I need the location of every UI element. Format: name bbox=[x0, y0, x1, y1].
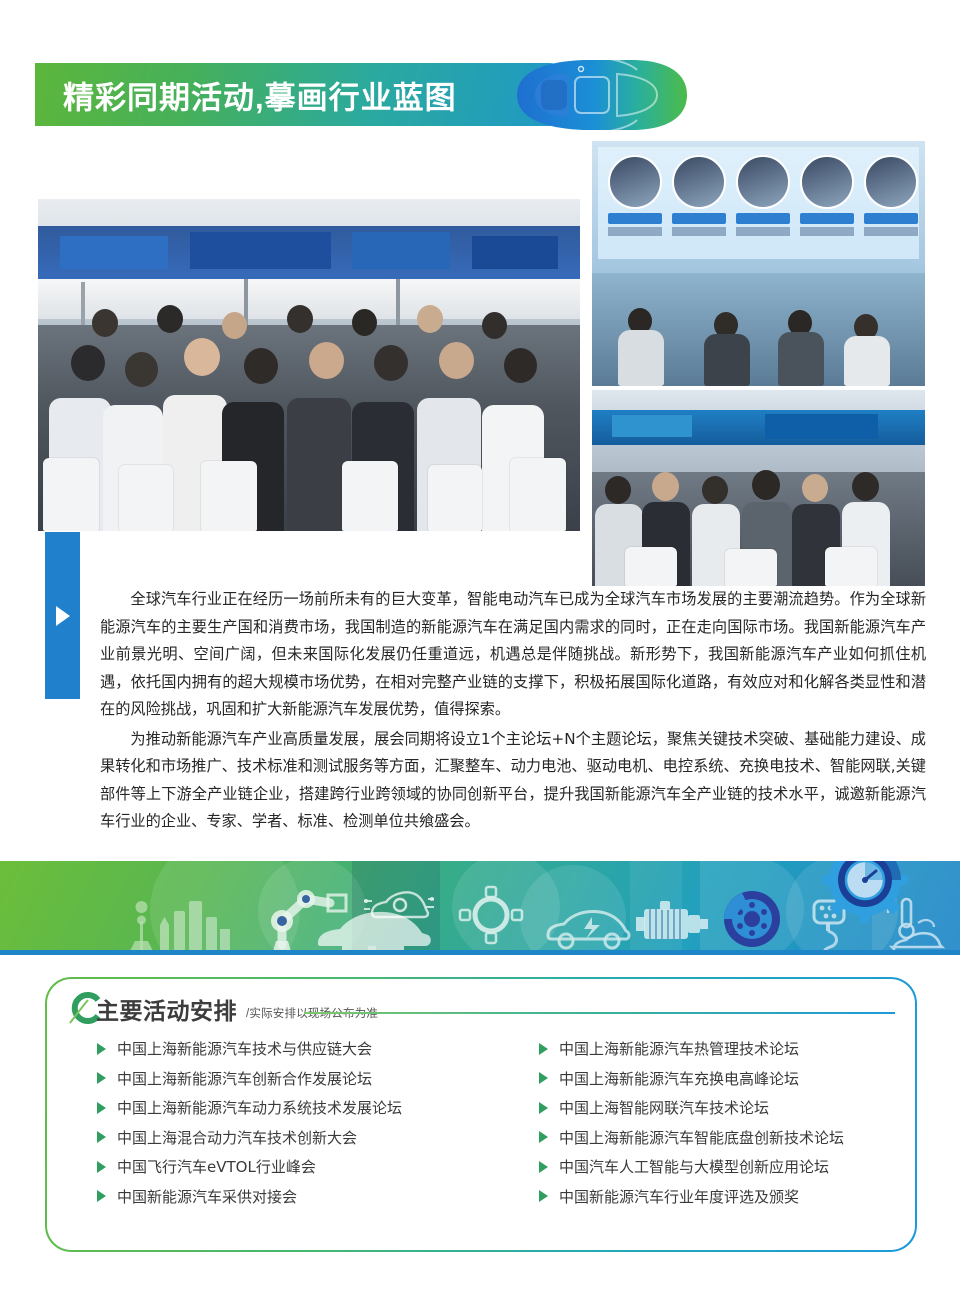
list-item-label: 中国新能源汽车采供对接会 bbox=[117, 1186, 297, 1207]
intro-paragraph-1: 全球汽车行业正在经历一场前所未有的巨大变革，智能电动汽车已成为全球汽车市场发展的… bbox=[100, 586, 926, 724]
triangle-bullet-icon bbox=[539, 1072, 548, 1084]
schedule-right-column: 中国上海新能源汽车热管理技术论坛 中国上海新能源汽车充换电高峰论坛 中国上海智能… bbox=[539, 1034, 919, 1211]
list-item[interactable]: 中国新能源汽车采供对接会 bbox=[97, 1182, 497, 1212]
speedometer-gear-icon bbox=[822, 861, 908, 923]
schedule-lists: 中国上海新能源汽车技术与供应链大会 中国上海新能源汽车创新合作发展论坛 中国上海… bbox=[97, 1034, 887, 1211]
list-item-label: 中国上海智能网联汽车技术论坛 bbox=[559, 1097, 769, 1118]
triangle-bullet-icon bbox=[97, 1131, 106, 1143]
ev-car-icon bbox=[540, 901, 636, 955]
page-title: 精彩同期活动,摹画行业蓝图 bbox=[63, 72, 457, 117]
list-item[interactable]: 中国上海新能源汽车创新合作发展论坛 bbox=[97, 1064, 497, 1094]
speaker-screen bbox=[598, 147, 919, 259]
list-item[interactable]: 中国汽车人工智能与大模型创新应用论坛 bbox=[539, 1152, 919, 1182]
list-item[interactable]: 中国上海新能源汽车动力系统技术发展论坛 bbox=[97, 1093, 497, 1123]
industry-icon-band bbox=[0, 861, 960, 955]
list-item[interactable]: 中国上海新能源汽车热管理技术论坛 bbox=[539, 1034, 919, 1064]
list-item[interactable]: 中国上海新能源汽车智能底盘创新技术论坛 bbox=[539, 1123, 919, 1153]
audience-photo: ATWW 英德·国际汽车制造技术周 INFO Auto Tech Week NE… bbox=[35, 196, 583, 534]
smart-car-circuit-icon bbox=[364, 881, 434, 927]
triangle-bullet-icon bbox=[97, 1190, 106, 1202]
schedule-card: 主要活动安排 /实际安排以现场公布为准 中国上海新能源汽车技术与供应链大会 中国… bbox=[45, 977, 917, 1252]
list-item[interactable]: 中国上海新能源汽车技术与供应链大会 bbox=[97, 1034, 497, 1064]
schedule-left-column: 中国上海新能源汽车技术与供应链大会 中国上海新能源汽车创新合作发展论坛 中国上海… bbox=[97, 1034, 497, 1211]
list-item-label: 中国上海新能源汽车创新合作发展论坛 bbox=[117, 1068, 372, 1089]
list-item-label: 中国上海混合动力汽车技术创新大会 bbox=[117, 1127, 357, 1148]
poster-page: 精彩同期活动,摹画行业蓝图 bbox=[0, 0, 960, 1302]
list-item-label: 中国上海新能源汽车动力系统技术发展论坛 bbox=[117, 1097, 402, 1118]
triangle-bullet-icon bbox=[97, 1102, 106, 1114]
car-top-view-icon bbox=[505, 52, 695, 138]
schedule-rule bbox=[304, 1012, 895, 1014]
list-item[interactable]: 中国上海新能源汽车充换电高峰论坛 bbox=[539, 1064, 919, 1094]
list-item-label: 中国上海新能源汽车充换电高峰论坛 bbox=[559, 1068, 799, 1089]
list-item-label: 中国飞行汽车eVTOL行业峰会 bbox=[117, 1156, 316, 1177]
list-item-label: 中国上海新能源汽车智能底盘创新技术论坛 bbox=[559, 1127, 844, 1148]
header-banner: 精彩同期活动,摹画行业蓝图 bbox=[35, 63, 580, 126]
intro-paragraph-2: 为推动新能源汽车产业高质量发展，展会同期将设立1个主论坛+N个主题论坛，聚焦关键… bbox=[100, 726, 926, 836]
play-triangle-icon bbox=[56, 606, 70, 626]
triangle-bullet-icon bbox=[539, 1131, 548, 1143]
intro-text-block: 全球汽车行业正在经历一场前所未有的巨大变革，智能电动汽车已成为全球汽车市场发展的… bbox=[100, 586, 926, 838]
triangle-bullet-icon bbox=[539, 1043, 548, 1055]
wheel-hub-icon bbox=[456, 883, 526, 953]
list-item[interactable]: 中国上海智能网联汽车技术论坛 bbox=[539, 1093, 919, 1123]
list-item-label: 中国汽车人工智能与大模型创新应用论坛 bbox=[559, 1156, 829, 1177]
list-item-label: 中国新能源汽车行业年度评选及颁奖 bbox=[559, 1186, 799, 1207]
electric-motor-icon bbox=[634, 897, 712, 949]
list-item[interactable]: 中国飞行汽车eVTOL行业峰会 bbox=[97, 1152, 497, 1182]
list-item[interactable]: 中国新能源汽车行业年度评选及颁奖 bbox=[539, 1182, 919, 1212]
triangle-bullet-icon bbox=[97, 1072, 106, 1084]
section-accent-bar bbox=[45, 532, 80, 699]
list-item-label: 中国上海新能源汽车技术与供应链大会 bbox=[117, 1038, 372, 1059]
list-item-label: 中国上海新能源汽车热管理技术论坛 bbox=[559, 1038, 799, 1059]
schedule-title: 主要活动安排 bbox=[96, 992, 237, 1026]
list-item[interactable]: 中国上海混合动力汽车技术创新大会 bbox=[97, 1123, 497, 1153]
brake-disc-icon bbox=[712, 879, 790, 955]
triangle-bullet-icon bbox=[97, 1161, 106, 1173]
schedule-header: 主要活动安排 /实际安排以现场公布为准 bbox=[68, 987, 893, 1029]
triangle-bullet-icon bbox=[539, 1102, 548, 1114]
panel-discussion-photo bbox=[592, 141, 925, 386]
shanghai-skyline-icon bbox=[126, 887, 236, 951]
triangle-bullet-icon bbox=[539, 1161, 548, 1173]
forum-audience-photo bbox=[592, 390, 925, 586]
triangle-bullet-icon bbox=[539, 1190, 548, 1202]
triangle-bullet-icon bbox=[97, 1043, 106, 1055]
